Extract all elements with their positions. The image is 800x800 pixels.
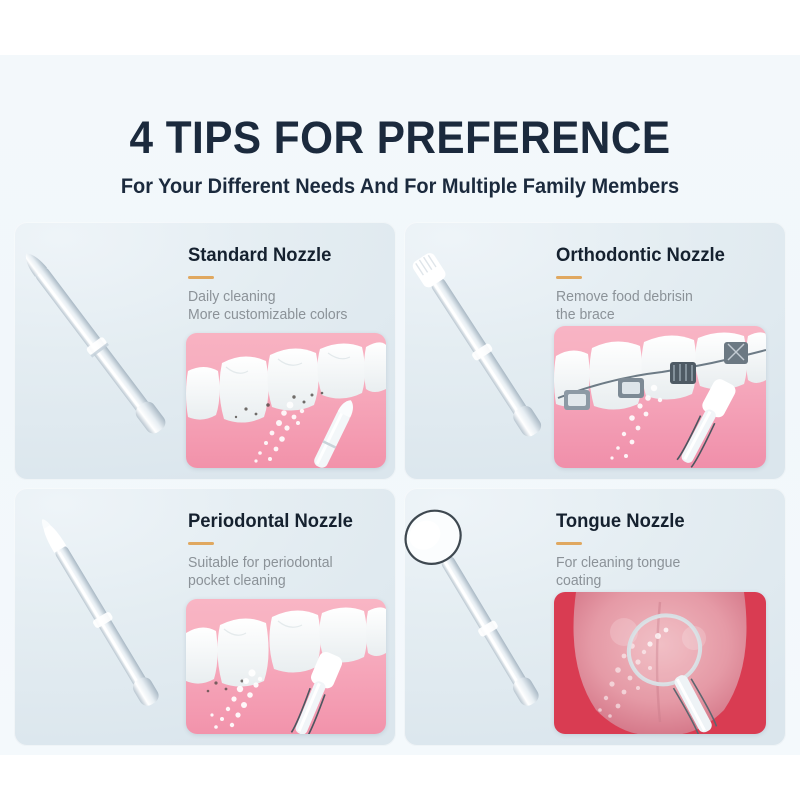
card-standard-nozzle[interactable]: Standard Nozzle Daily cleaning More cust… [14, 222, 396, 480]
desc-line-2: More customizable colors [188, 306, 372, 324]
desc-line-2: pocket cleaning [188, 572, 372, 590]
page-title: 4 TIPS FOR PREFERENCE [24, 112, 776, 164]
tongue-scraper-nozzle-icon [404, 488, 559, 746]
periodontal-soft-tip-nozzle-icon [14, 488, 189, 746]
card-description: For cleaning tongue coating [556, 554, 740, 590]
card-tongue-nozzle[interactable]: Tongue Nozzle For cleaning tongue coatin… [404, 488, 786, 746]
card-description: Daily cleaning More customizable colors [188, 288, 372, 324]
teeth-gums-water-jet-photo [186, 333, 386, 468]
accent-rule [556, 542, 582, 545]
desc-line-2: coating [556, 572, 740, 590]
nozzle-card-grid: Standard Nozzle Daily cleaning More cust… [14, 222, 786, 746]
card-orthodontic-nozzle[interactable]: Orthodontic Nozzle Remove food debrisin … [404, 222, 786, 480]
standard-nozzle-icon [14, 222, 189, 480]
card-orthodontic-text: Orthodontic Nozzle Remove food debrisin … [556, 244, 746, 324]
orthodontic-brush-nozzle-icon [404, 222, 559, 480]
card-title: Tongue Nozzle [556, 510, 740, 533]
header: 4 TIPS FOR PREFERENCE For Your Different… [0, 112, 800, 200]
page-subtitle: For Your Different Needs And For Multipl… [20, 174, 780, 200]
desc-line-1: For cleaning tongue [556, 554, 740, 572]
desc-line-2: the brace [556, 306, 740, 324]
card-periodontal-nozzle[interactable]: Periodontal Nozzle Suitable for periodon… [14, 488, 396, 746]
tongue-scraper-water-jet-photo [554, 592, 766, 734]
card-tongue-text: Tongue Nozzle For cleaning tongue coatin… [556, 510, 746, 590]
braces-teeth-water-jet-photo [554, 326, 766, 468]
desc-line-1: Remove food debrisin [556, 288, 740, 306]
card-title: Standard Nozzle [188, 244, 372, 267]
desc-line-1: Daily cleaning [188, 288, 372, 306]
card-periodontal-text: Periodontal Nozzle Suitable for periodon… [188, 510, 378, 590]
card-standard-text: Standard Nozzle Daily cleaning More cust… [188, 244, 378, 324]
accent-rule [556, 276, 582, 279]
card-title: Orthodontic Nozzle [556, 244, 740, 267]
card-description: Remove food debrisin the brace [556, 288, 740, 324]
accent-rule [188, 542, 214, 545]
gum-pocket-water-jet-photo [186, 599, 386, 734]
desc-line-1: Suitable for periodontal [188, 554, 372, 572]
infographic-page: 4 TIPS FOR PREFERENCE For Your Different… [0, 0, 800, 800]
card-description: Suitable for periodontal pocket cleaning [188, 554, 372, 590]
accent-rule [188, 276, 214, 279]
card-title: Periodontal Nozzle [188, 510, 372, 533]
